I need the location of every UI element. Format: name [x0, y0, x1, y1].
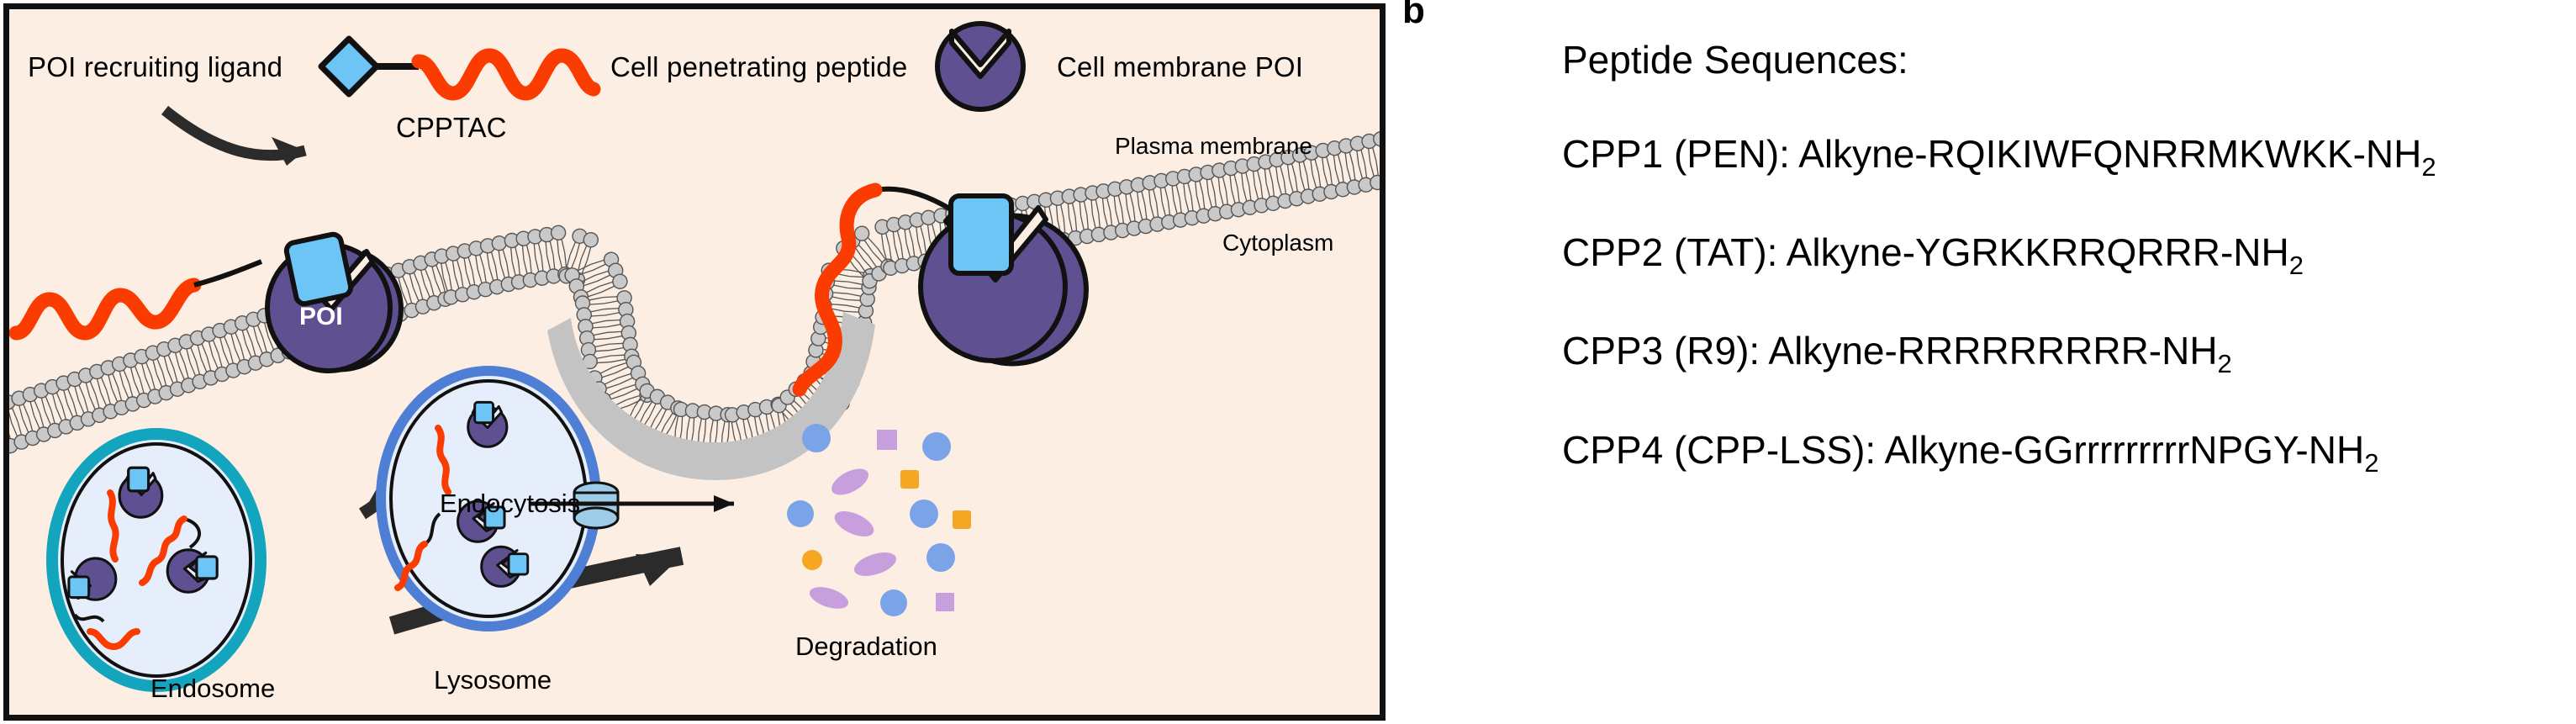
diagram-graphics: POI [9, 9, 1380, 715]
right-linker [875, 189, 951, 209]
membrane-poi-left: POI [267, 233, 401, 371]
sequence-row-1: CPP1 (PEN): Alkyne-RQIKIWFQNRRMKWKK-NH2 [1562, 131, 2571, 182]
free-cpp-squiggle [16, 285, 194, 333]
legend-orange-squiggle-icon [419, 55, 594, 93]
sequence-name-3: CPP3 (R9): [1562, 329, 1760, 373]
lysosome-label: Lysosome [434, 665, 552, 695]
sequences-heading: Peptide Sequences: [1562, 37, 2571, 82]
cytoplasm-label: Cytoplasm [1222, 230, 1333, 256]
diagram-frame: POI [3, 3, 1386, 721]
plasma-membrane-label: Plasma membrane [1115, 133, 1312, 160]
sequence-row-2: CPP2 (TAT): Alkyne-YGRKKRRQRRR-NH2 [1562, 230, 2571, 281]
clathrin-coat [547, 312, 875, 480]
ligand-blue-square-left [285, 233, 352, 305]
sequence-value-3: Alkyne-RRRRRRRRR-NH [1768, 329, 2217, 373]
sequence-sub-4: 2 [2364, 448, 2378, 478]
sequence-value-1: Alkyne-RQIKIWFQNRRMKWKK-NH [1798, 132, 2421, 176]
sequence-sub-3: 2 [2218, 350, 2232, 379]
poi-badge-label: POI [299, 303, 343, 330]
panel-b-letter: b [1402, 0, 1425, 32]
sequence-sub-2: 2 [2289, 251, 2304, 280]
sequence-value-2: Alkyne-YGRKKRRQRRR-NH [1787, 230, 2289, 274]
legend-label-cpp: Cell penetrating peptide [610, 51, 907, 83]
legend-blue-diamond-icon [321, 39, 377, 94]
endosome-label: Endosome [150, 674, 275, 704]
legend-purple-pacman-icon [937, 24, 1023, 109]
sequence-name-4: CPP4 (CPP-LSS): [1562, 428, 1876, 472]
endosome [52, 434, 261, 686]
sequence-value-4: Alkyne-GGrrrrrrrrrNPGY-NH [1884, 428, 2364, 472]
ligand-blue-square-right [951, 196, 1011, 273]
sequence-name-1: CPP1 (PEN): [1562, 132, 1790, 176]
sequence-name-2: CPP2 (TAT): [1562, 230, 1777, 274]
degradation-products [787, 424, 971, 616]
sequence-sub-1: 2 [2421, 152, 2436, 182]
panel-b-sequences: b Peptide Sequences: CPP1 (PEN): Alkyne-… [1394, 0, 2576, 724]
degradation-arrowhead [714, 495, 734, 512]
degradation-label: Degradation [795, 632, 937, 662]
legend-label-membrane-poi: Cell membrane POI [1057, 51, 1303, 83]
figure-root: POI [0, 0, 2576, 724]
sequence-row-3: CPP3 (R9): Alkyne-RRRRRRRRR-NH2 [1562, 328, 2571, 379]
membrane-poi-right [921, 196, 1086, 363]
plasma-membrane [9, 130, 1380, 464]
panel-a-diagram: POI [0, 0, 1394, 724]
cpptac-label: CPPTAC [396, 112, 506, 144]
sequence-list: Peptide Sequences: CPP1 (PEN): Alkyne-RQ… [1562, 37, 2571, 526]
sequence-row-4: CPP4 (CPP-LSS): Alkyne-GGrrrrrrrrrNPGY-N… [1562, 427, 2571, 478]
legend-label-ligand: POI recruiting ligand [28, 51, 282, 83]
endocytosis-label: Endocytosis [440, 489, 580, 519]
free-cpp-linker [194, 262, 261, 285]
